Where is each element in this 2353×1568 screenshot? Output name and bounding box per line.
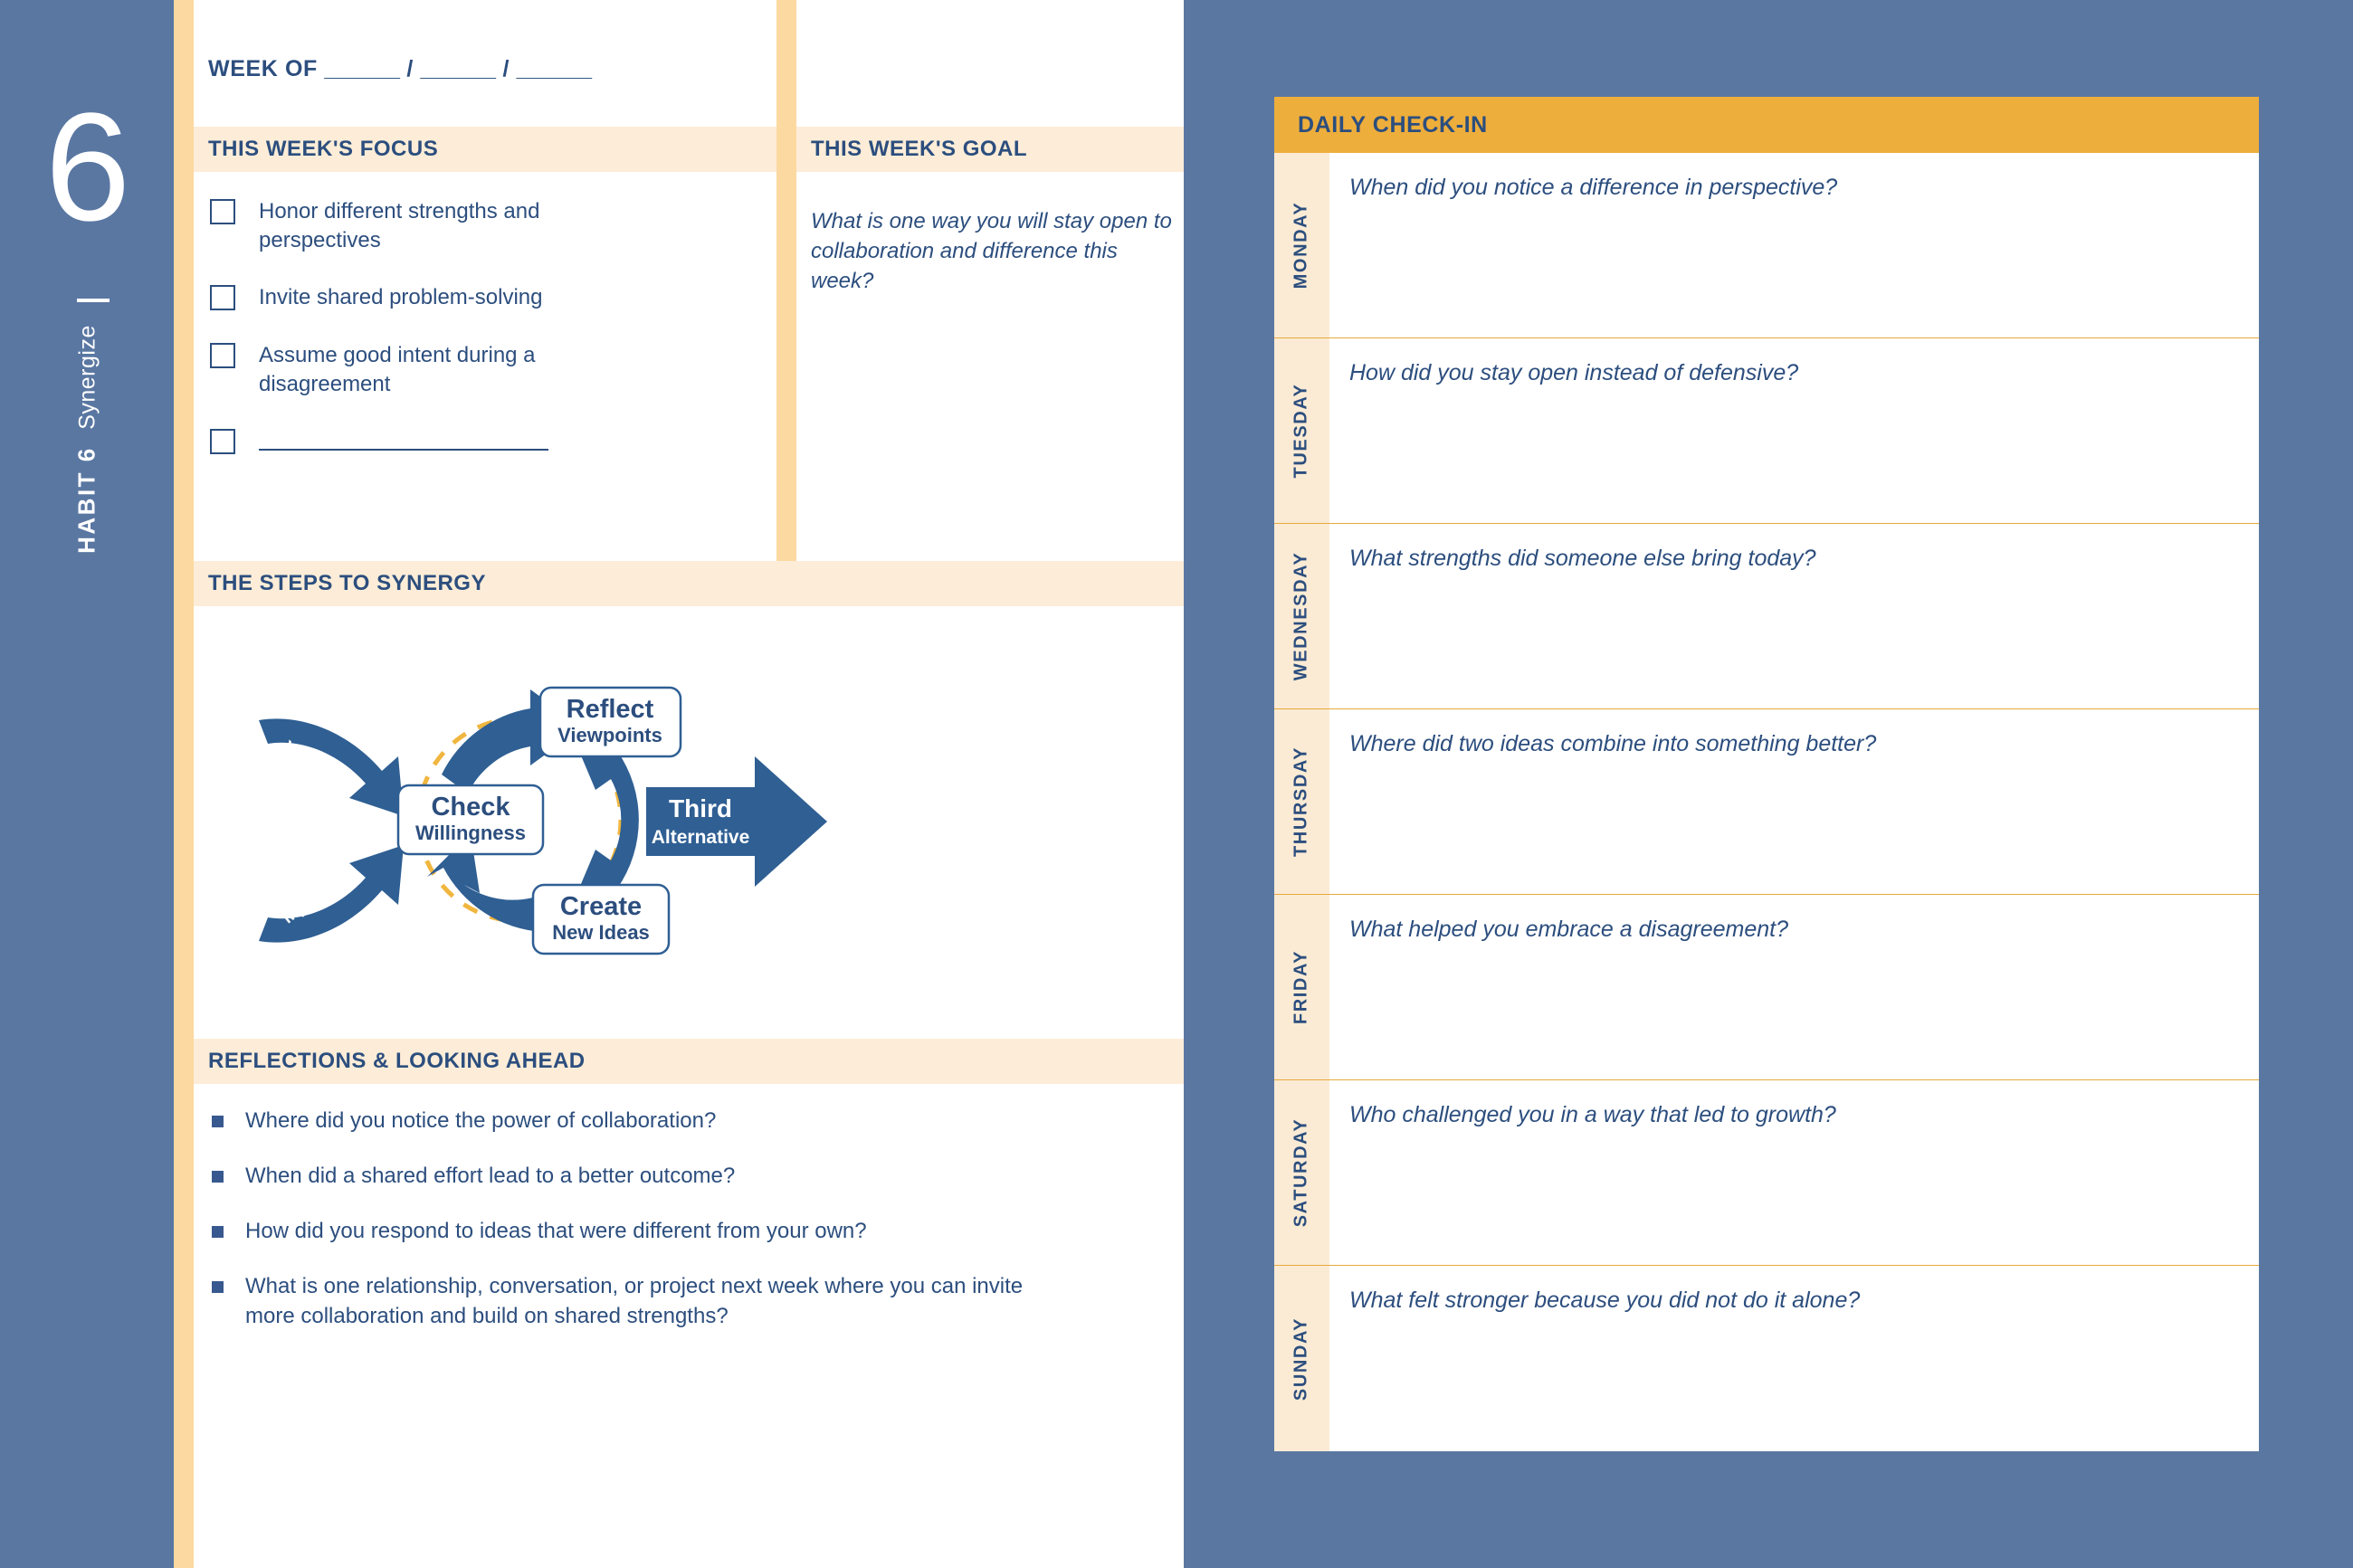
week-of-day-blank[interactable]: ______ — [421, 56, 496, 81]
habit-rail: 6 HABIT 6 Synergize — [0, 0, 174, 1568]
day-row-saturday: SATURDAY Who challenged you in a way tha… — [1274, 1080, 2259, 1266]
write-in-rule — [259, 449, 548, 451]
left-page-worksheet: 6 HABIT 6 Synergize WEEK OF ______ / ___… — [0, 0, 1184, 1568]
week-of-year-blank[interactable]: ______ — [517, 56, 592, 81]
focus-checklist-item[interactable]: Invite shared problem-solving — [210, 283, 753, 312]
day-row-wednesday: WEDNESDAY What strengths did someone els… — [1274, 524, 2259, 709]
day-prompt: What helped you embrace a disagreement? — [1349, 915, 2241, 945]
node-create-main: Create — [560, 892, 642, 921]
day-label-column: WEDNESDAY — [1274, 524, 1329, 708]
day-label-column: THURSDAY — [1274, 709, 1329, 894]
node-reflect-main: Reflect — [567, 695, 654, 724]
focus-checklist-item[interactable]: Honor different strengths and perspectiv… — [210, 197, 753, 254]
day-prompt: What strengths did someone else bring to… — [1349, 544, 2241, 574]
week-of-slash-1: / — [406, 56, 414, 81]
day-label: SATURDAY — [1291, 1118, 1312, 1228]
day-answer-area[interactable]: When did you notice a difference in pers… — [1329, 153, 2259, 337]
focus-item-label: Honor different strengths and perspectiv… — [259, 197, 567, 254]
day-answer-area[interactable]: Who challenged you in a way that led to … — [1329, 1080, 2259, 1265]
habit-number: 6 — [0, 90, 174, 244]
week-of-label: WEEK OF — [208, 56, 318, 81]
checkbox-icon[interactable] — [210, 343, 235, 368]
node-check-sub: Willingness — [415, 822, 526, 844]
day-label: THURSDAY — [1291, 746, 1312, 857]
synergy-diagram-svg: .blu{fill:#2F5F93;} — [194, 606, 1184, 1031]
reflection-item: How did you respond to ideas that were d… — [212, 1216, 1153, 1246]
day-label: SUNDAY — [1291, 1316, 1312, 1400]
column-separator — [776, 0, 796, 561]
input-arrow-my-way: My Way — [259, 845, 404, 943]
habit-name: Synergize — [75, 325, 100, 430]
output-arrow-third-alternative: Third Alternative — [646, 756, 827, 887]
square-bullet-icon — [212, 1226, 224, 1238]
day-answer-area[interactable]: Where did two ideas combine into somethi… — [1329, 709, 2259, 894]
node-check-main: Check — [431, 793, 510, 822]
day-row-thursday: THURSDAY Where did two ideas combine int… — [1274, 709, 2259, 895]
reflections-title: REFLECTIONS & LOOKING AHEAD — [208, 1049, 586, 1074]
checkbox-icon[interactable] — [210, 429, 235, 454]
reflection-text: When did a shared effort lead to a bette… — [245, 1161, 735, 1191]
reflections-list: Where did you notice the power of collab… — [212, 1106, 1153, 1357]
daily-check-in-rows: MONDAY When did you notice a difference … — [1274, 153, 2259, 1563]
week-of-month-blank[interactable]: ______ — [324, 56, 399, 81]
reflection-item: What is one relationship, conversation, … — [212, 1271, 1153, 1331]
checkbox-icon[interactable] — [210, 285, 235, 310]
node-create-new-ideas: Create New Ideas — [533, 885, 669, 954]
reflection-text: How did you respond to ideas that were d… — [245, 1216, 867, 1246]
day-label-column: MONDAY — [1274, 153, 1329, 337]
section-header-goal: THIS WEEK'S GOAL — [796, 127, 1184, 172]
habit-divider — [77, 299, 110, 302]
habit-label: HABIT 6 — [73, 446, 100, 554]
left-page-body: WEEK OF ______ / ______ / ______ THIS WE… — [194, 0, 1184, 1568]
reflection-text: Where did you notice the power of collab… — [245, 1106, 716, 1136]
day-label: FRIDAY — [1291, 950, 1312, 1024]
day-answer-area[interactable]: What helped you embrace a disagreement? — [1329, 895, 2259, 1079]
week-of-slash-2: / — [502, 56, 510, 81]
node-reflect-sub: Viewpoints — [557, 724, 662, 746]
input-arrow-your-way: Your Way — [259, 718, 404, 816]
day-prompt: Who challenged you in a way that led to … — [1349, 1100, 2241, 1130]
day-prompt: When did you notice a difference in pers… — [1349, 173, 2241, 203]
section-header-reflections: REFLECTIONS & LOOKING AHEAD — [194, 1039, 1184, 1084]
day-answer-area[interactable]: What felt stronger because you did not d… — [1329, 1266, 2259, 1451]
daily-check-in-panel: DAILY CHECK-IN MONDAY When did you notic… — [1274, 97, 2259, 1472]
day-label-column: SUNDAY — [1274, 1266, 1329, 1451]
arc-arrow-right — [571, 732, 639, 908]
section-header-steps: THE STEPS TO SYNERGY — [194, 561, 1184, 606]
day-prompt: What felt stronger because you did not d… — [1349, 1286, 2241, 1316]
day-row-monday: MONDAY When did you notice a difference … — [1274, 153, 2259, 338]
focus-checklist-item[interactable]: Assume good intent during a disagreement — [210, 341, 753, 398]
node-create-sub: New Ideas — [552, 921, 650, 944]
focus-item-label: Invite shared problem-solving — [259, 283, 543, 312]
goal-prompt: What is one way you will stay open to co… — [811, 206, 1173, 296]
third-alternative-sub: Alternative — [652, 827, 750, 848]
day-answer-area[interactable]: What strengths did someone else bring to… — [1329, 524, 2259, 708]
reflection-item: Where did you notice the power of collab… — [212, 1106, 1153, 1136]
focus-checklist-item-blank[interactable] — [210, 427, 753, 454]
day-label: MONDAY — [1291, 202, 1312, 290]
node-check-willingness: Check Willingness — [398, 785, 543, 854]
focus-item-write-in[interactable] — [259, 427, 548, 451]
third-alternative-main: Third — [669, 794, 732, 822]
focus-title: THIS WEEK'S FOCUS — [208, 137, 438, 162]
synergy-diagram: .blu{fill:#2F5F93;} — [194, 606, 1184, 1031]
section-header-focus: THIS WEEK'S FOCUS — [194, 127, 776, 172]
day-answer-area[interactable]: How did you stay open instead of defensi… — [1329, 338, 2259, 523]
day-row-friday: FRIDAY What helped you embrace a disagre… — [1274, 895, 2259, 1080]
reflection-text: What is one relationship, conversation, … — [245, 1271, 1042, 1331]
focus-checklist: Honor different strengths and perspectiv… — [210, 197, 753, 483]
day-row-tuesday: TUESDAY How did you stay open instead of… — [1274, 338, 2259, 524]
day-row-sunday: SUNDAY What felt stronger because you di… — [1274, 1266, 2259, 1451]
goal-title: THIS WEEK'S GOAL — [811, 137, 1027, 162]
node-reflect-viewpoints: Reflect Viewpoints — [540, 688, 681, 756]
day-prompt: How did you stay open instead of defensi… — [1349, 358, 2241, 388]
week-of-field[interactable]: WEEK OF ______ / ______ / ______ — [208, 56, 592, 82]
checkbox-icon[interactable] — [210, 199, 235, 224]
steps-title: THE STEPS TO SYNERGY — [208, 571, 486, 596]
day-label-column: SATURDAY — [1274, 1080, 1329, 1265]
day-label: TUESDAY — [1291, 384, 1312, 479]
day-label-column: TUESDAY — [1274, 338, 1329, 523]
habit-vertical-title: HABIT 6 Synergize — [0, 326, 174, 561]
day-label: WEDNESDAY — [1291, 552, 1312, 681]
daily-check-in-header: DAILY CHECK-IN — [1274, 97, 2259, 153]
square-bullet-icon — [212, 1116, 224, 1127]
daily-check-in-title: DAILY CHECK-IN — [1298, 112, 1488, 138]
square-bullet-icon — [212, 1281, 224, 1293]
day-label-column: FRIDAY — [1274, 895, 1329, 1079]
left-gutter-strip — [174, 0, 194, 1568]
reflection-item: When did a shared effort lead to a bette… — [212, 1161, 1153, 1191]
square-bullet-icon — [212, 1171, 224, 1183]
focus-item-label: Assume good intent during a disagreement — [259, 341, 567, 398]
day-prompt: Where did two ideas combine into somethi… — [1349, 729, 2241, 759]
